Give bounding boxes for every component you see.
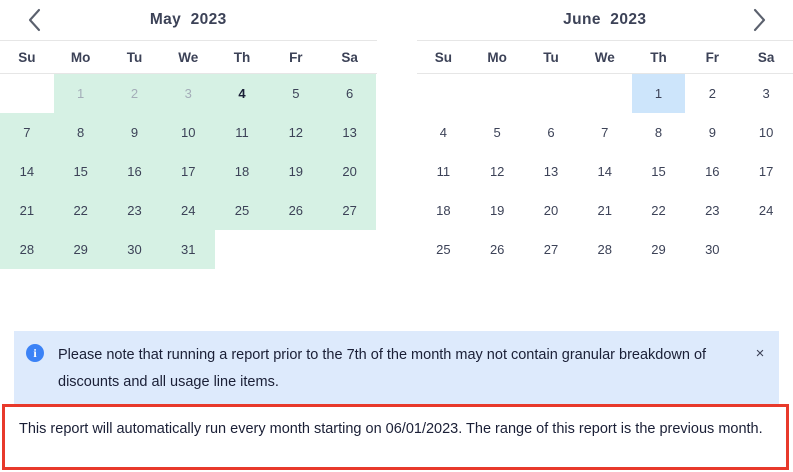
day-cell[interactable]: 19: [470, 191, 524, 230]
day-number: 29: [651, 242, 665, 257]
day-number: 17: [759, 164, 773, 179]
day-number: 19: [289, 164, 303, 179]
day-cell[interactable]: 5: [470, 113, 524, 152]
day-number: 24: [181, 203, 195, 218]
day-cell[interactable]: 7: [578, 113, 632, 152]
weekday-su: Su: [0, 41, 54, 73]
info-circle-icon: i: [26, 344, 44, 362]
calendar-header-may: May 2023: [0, 0, 377, 40]
day-cell-empty: [0, 74, 54, 113]
day-cell[interactable]: 23: [685, 191, 739, 230]
day-number: 2: [131, 86, 138, 101]
day-cell[interactable]: 22: [632, 191, 686, 230]
day-cell-empty: [215, 230, 269, 269]
day-cell[interactable]: 28: [0, 230, 54, 269]
day-number: 27: [544, 242, 558, 257]
day-cell[interactable]: 5: [269, 74, 323, 113]
day-number: 21: [20, 203, 34, 218]
day-number: 5: [494, 125, 501, 140]
weekday-th: Th: [215, 41, 269, 73]
day-number: 11: [235, 125, 249, 140]
day-cell[interactable]: 10: [161, 113, 215, 152]
day-number: 28: [20, 242, 34, 257]
day-number: 12: [490, 164, 504, 179]
day-cell[interactable]: 9: [108, 113, 162, 152]
day-number: 26: [289, 203, 303, 218]
day-number: 18: [235, 164, 249, 179]
day-cell[interactable]: 12: [269, 113, 323, 152]
day-cell-empty: [524, 269, 578, 308]
day-number: 16: [705, 164, 719, 179]
day-number: 13: [544, 164, 558, 179]
day-number: 30: [705, 242, 719, 257]
day-cell[interactable]: 31: [161, 230, 215, 269]
day-cell-empty: [632, 269, 686, 308]
day-cell-empty: [417, 269, 471, 308]
day-number: 1: [655, 86, 662, 101]
weekday-header-june: Su Mo Tu We Th Fr Sa: [417, 40, 793, 74]
day-number: 14: [598, 164, 612, 179]
prev-month-button[interactable]: [14, 0, 54, 40]
day-number: 7: [23, 125, 30, 140]
day-cell-empty: [108, 269, 162, 308]
day-number: 4: [440, 125, 447, 140]
day-cell[interactable]: 1: [632, 74, 686, 113]
info-banner-text: Please note that running a report prior …: [58, 342, 741, 396]
next-month-button[interactable]: [739, 0, 779, 40]
day-cell[interactable]: 12: [470, 152, 524, 191]
day-cell-empty: [739, 269, 793, 308]
weekday-mo: Mo: [470, 41, 524, 73]
day-cell[interactable]: 17: [161, 152, 215, 191]
day-cell[interactable]: 6: [323, 74, 377, 113]
day-cell[interactable]: 2: [108, 74, 162, 113]
day-cell[interactable]: 20: [323, 152, 377, 191]
day-number: 31: [181, 242, 195, 257]
calendar-header-june: June 2023: [417, 0, 793, 40]
day-cell-empty: [269, 269, 323, 308]
day-cell-empty: [470, 74, 524, 113]
day-cell[interactable]: 20: [524, 191, 578, 230]
day-cell-empty: [470, 269, 524, 308]
day-cell-empty: [269, 230, 323, 269]
day-cell[interactable]: 28: [578, 230, 632, 269]
day-cell[interactable]: 22: [54, 191, 108, 230]
day-cell-empty: [323, 230, 377, 269]
day-number: 22: [73, 203, 87, 218]
date-range-picker: May 2023 Su Mo Tu We Th Fr Sa 1234567891…: [0, 0, 793, 300]
day-cell-empty: [215, 269, 269, 308]
day-number: 20: [342, 164, 356, 179]
day-grid-may: 1234567891011121314151617181920212223242…: [0, 74, 377, 308]
day-cell[interactable]: 24: [739, 191, 793, 230]
weekday-fr: Fr: [269, 41, 323, 73]
chevron-left-icon: [26, 7, 43, 33]
day-cell[interactable]: 21: [0, 191, 54, 230]
day-number: 23: [705, 203, 719, 218]
day-cell[interactable]: 1: [54, 74, 108, 113]
schedule-note: This report will automatically run every…: [2, 404, 789, 470]
day-cell[interactable]: 3: [739, 74, 793, 113]
day-cell[interactable]: 8: [632, 113, 686, 152]
day-cell[interactable]: 30: [108, 230, 162, 269]
day-cell[interactable]: 15: [632, 152, 686, 191]
day-cell[interactable]: 4: [417, 113, 471, 152]
weekday-th: Th: [632, 41, 686, 73]
day-number: 13: [342, 125, 356, 140]
chevron-right-icon: [751, 7, 768, 33]
day-cell[interactable]: 25: [417, 230, 471, 269]
day-cell[interactable]: 14: [0, 152, 54, 191]
day-cell[interactable]: 14: [578, 152, 632, 191]
day-cell[interactable]: 27: [524, 230, 578, 269]
day-number: 7: [601, 125, 608, 140]
weekday-su: Su: [417, 41, 471, 73]
day-cell[interactable]: 2: [685, 74, 739, 113]
day-number: 19: [490, 203, 504, 218]
day-cell[interactable]: 13: [524, 152, 578, 191]
day-cell[interactable]: 16: [685, 152, 739, 191]
calendar-may: May 2023 Su Mo Tu We Th Fr Sa 1234567891…: [0, 0, 377, 300]
day-cell-empty: [578, 74, 632, 113]
day-cell[interactable]: 30: [685, 230, 739, 269]
day-number: 22: [651, 203, 665, 218]
day-number: 18: [436, 203, 450, 218]
day-cell-empty: [578, 269, 632, 308]
day-number: 29: [73, 242, 87, 257]
day-cell-empty: [417, 74, 471, 113]
day-number: 8: [77, 125, 84, 140]
day-number: 3: [185, 86, 192, 101]
day-cell[interactable]: 23: [108, 191, 162, 230]
day-number: 6: [547, 125, 554, 140]
day-number: 15: [651, 164, 665, 179]
weekday-we: We: [578, 41, 632, 73]
day-number: 10: [759, 125, 773, 140]
day-number: 3: [762, 86, 769, 101]
day-number: 15: [73, 164, 87, 179]
day-cell[interactable]: 18: [215, 152, 269, 191]
day-number: 12: [289, 125, 303, 140]
day-cell[interactable]: 15: [54, 152, 108, 191]
weekday-tu: Tu: [524, 41, 578, 73]
day-number: 8: [655, 125, 662, 140]
day-number: 6: [346, 86, 353, 101]
day-cell[interactable]: 26: [470, 230, 524, 269]
close-icon[interactable]: ×: [751, 345, 769, 363]
calendar-june: June 2023 Su Mo Tu We Th Fr Sa 123456789…: [417, 0, 793, 300]
day-cell-empty: [524, 74, 578, 113]
day-cell-empty: [323, 269, 377, 308]
day-cell[interactable]: 11: [417, 152, 471, 191]
day-number: 10: [181, 125, 195, 140]
day-number: 25: [235, 203, 249, 218]
day-cell[interactable]: 29: [54, 230, 108, 269]
day-cell-empty: [739, 230, 793, 269]
day-number: 16: [127, 164, 141, 179]
day-cell-empty: [685, 269, 739, 308]
day-number: 9: [709, 125, 716, 140]
day-cell[interactable]: 11: [215, 113, 269, 152]
weekday-mo: Mo: [54, 41, 108, 73]
day-cell[interactable]: 19: [269, 152, 323, 191]
day-number: 28: [598, 242, 612, 257]
day-number: 9: [131, 125, 138, 140]
day-number: 23: [127, 203, 141, 218]
weekday-we: We: [161, 41, 215, 73]
weekday-sa: Sa: [739, 41, 793, 73]
day-number: 2: [709, 86, 716, 101]
day-number: 11: [437, 164, 451, 179]
day-cell[interactable]: 17: [739, 152, 793, 191]
day-cell[interactable]: 4: [215, 74, 269, 113]
day-cell[interactable]: 27: [323, 191, 377, 230]
day-number: 25: [436, 242, 450, 257]
day-cell[interactable]: 13: [323, 113, 377, 152]
calendar-title-june: June 2023: [563, 11, 646, 29]
weekday-fr: Fr: [685, 41, 739, 73]
day-cell[interactable]: 3: [161, 74, 215, 113]
day-number: 1: [77, 86, 84, 101]
day-number: 17: [181, 164, 195, 179]
day-cell[interactable]: 7: [0, 113, 54, 152]
weekday-header-may: Su Mo Tu We Th Fr Sa: [0, 40, 377, 74]
day-cell[interactable]: 29: [632, 230, 686, 269]
day-number: 27: [342, 203, 356, 218]
day-cell[interactable]: 8: [54, 113, 108, 152]
day-cell[interactable]: 25: [215, 191, 269, 230]
weekday-sa: Sa: [323, 41, 377, 73]
day-cell-empty: [0, 269, 54, 308]
day-cell[interactable]: 6: [524, 113, 578, 152]
day-cell[interactable]: 16: [108, 152, 162, 191]
day-number: 5: [292, 86, 299, 101]
day-number: 30: [127, 242, 141, 257]
day-cell[interactable]: 18: [417, 191, 471, 230]
day-cell[interactable]: 26: [269, 191, 323, 230]
day-cell[interactable]: 21: [578, 191, 632, 230]
day-cell[interactable]: 10: [739, 113, 793, 152]
day-grid-june: 1234567891011121314151617181920212223242…: [417, 74, 793, 308]
info-banner: i Please note that running a report prio…: [14, 331, 779, 408]
day-cell-empty: [161, 269, 215, 308]
day-number: 20: [544, 203, 558, 218]
day-number: 4: [238, 86, 245, 101]
day-cell[interactable]: 9: [685, 113, 739, 152]
day-cell-empty: [54, 269, 108, 308]
day-cell[interactable]: 24: [161, 191, 215, 230]
weekday-tu: Tu: [108, 41, 162, 73]
day-number: 24: [759, 203, 773, 218]
schedule-note-text: This report will automatically run every…: [19, 421, 763, 437]
day-number: 21: [598, 203, 612, 218]
day-number: 14: [20, 164, 34, 179]
day-number: 26: [490, 242, 504, 257]
calendar-title-may: May 2023: [150, 11, 227, 29]
